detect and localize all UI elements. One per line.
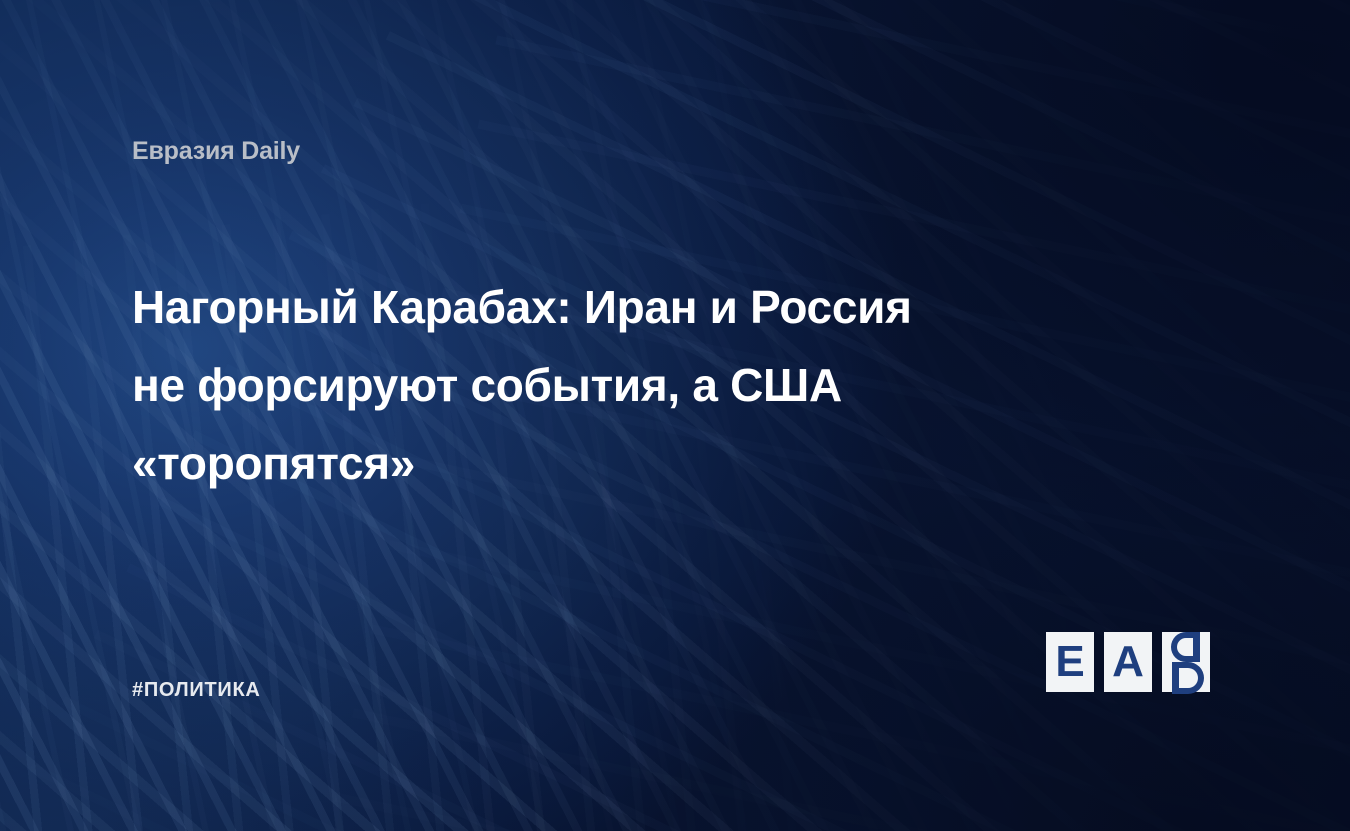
eadaily-logo[interactable]: E A <box>1046 632 1210 692</box>
logo-letter-a: A <box>1112 640 1144 684</box>
headline-line-3: «торопятся» <box>132 424 1092 502</box>
article-share-card: Евразия Daily Нагорный Карабах: Иран и Р… <box>0 0 1350 831</box>
article-headline: Нагорный Карабах: Иран и Россия не форси… <box>132 268 1092 502</box>
category-hashtag[interactable]: #ПОЛИТИКА <box>132 679 261 702</box>
logo-tile-a: A <box>1104 632 1152 692</box>
headline-line-2: не форсируют события, а США <box>132 346 1092 424</box>
card-content: Евразия Daily Нагорный Карабах: Иран и Р… <box>0 0 1350 831</box>
headline-line-1: Нагорный Карабах: Иран и Россия <box>132 268 1092 346</box>
logo-tile-e: E <box>1046 632 1094 692</box>
logo-letter-e: E <box>1055 640 1084 684</box>
logo-letter-d-icon <box>1162 632 1224 722</box>
publication-brand: Евразия Daily <box>132 137 300 166</box>
logo-tile-d <box>1162 632 1210 692</box>
